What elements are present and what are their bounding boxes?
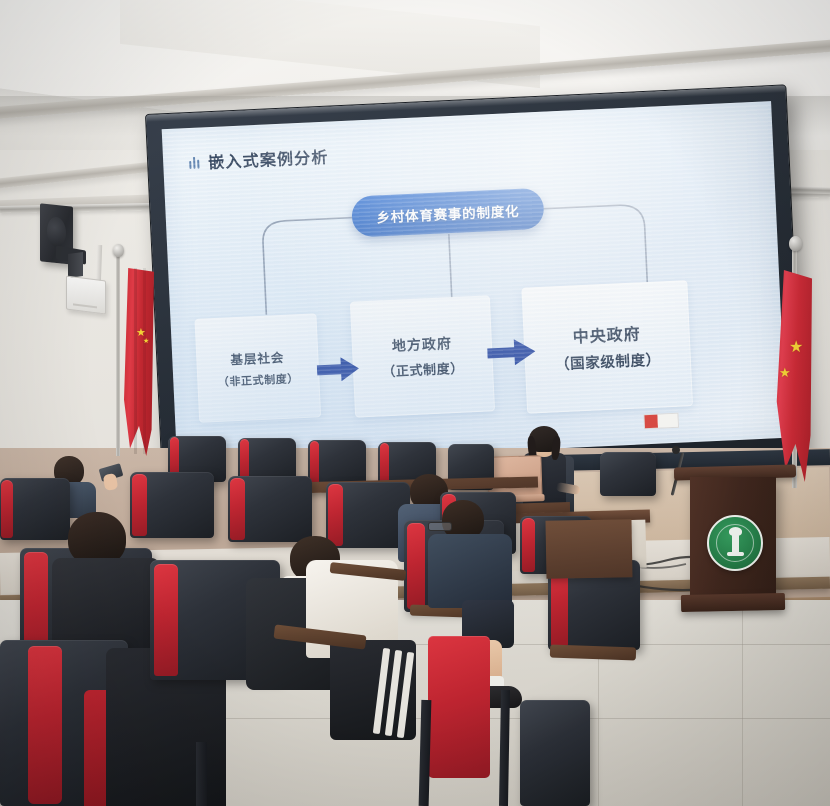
seat-row-back[interactable] bbox=[308, 440, 366, 486]
seat-leg bbox=[196, 742, 207, 806]
lecture-hall-photo: 嵌入式案例分析 乡村体育赛事的制度化 基层社会 （非正式制度） 地方政府 （正式… bbox=[0, 0, 830, 806]
glasses-icon bbox=[428, 522, 452, 531]
seat-foreground[interactable] bbox=[520, 700, 590, 806]
seat-foreground[interactable] bbox=[428, 636, 508, 786]
audience-seating bbox=[0, 0, 830, 806]
seat-leg bbox=[419, 700, 432, 806]
seat[interactable] bbox=[228, 476, 312, 542]
seat-leg bbox=[499, 690, 510, 806]
audience-hand bbox=[103, 473, 119, 491]
seat-row-back[interactable] bbox=[600, 452, 656, 496]
desk-end-panel bbox=[546, 519, 633, 578]
seat-armrest bbox=[550, 645, 636, 661]
